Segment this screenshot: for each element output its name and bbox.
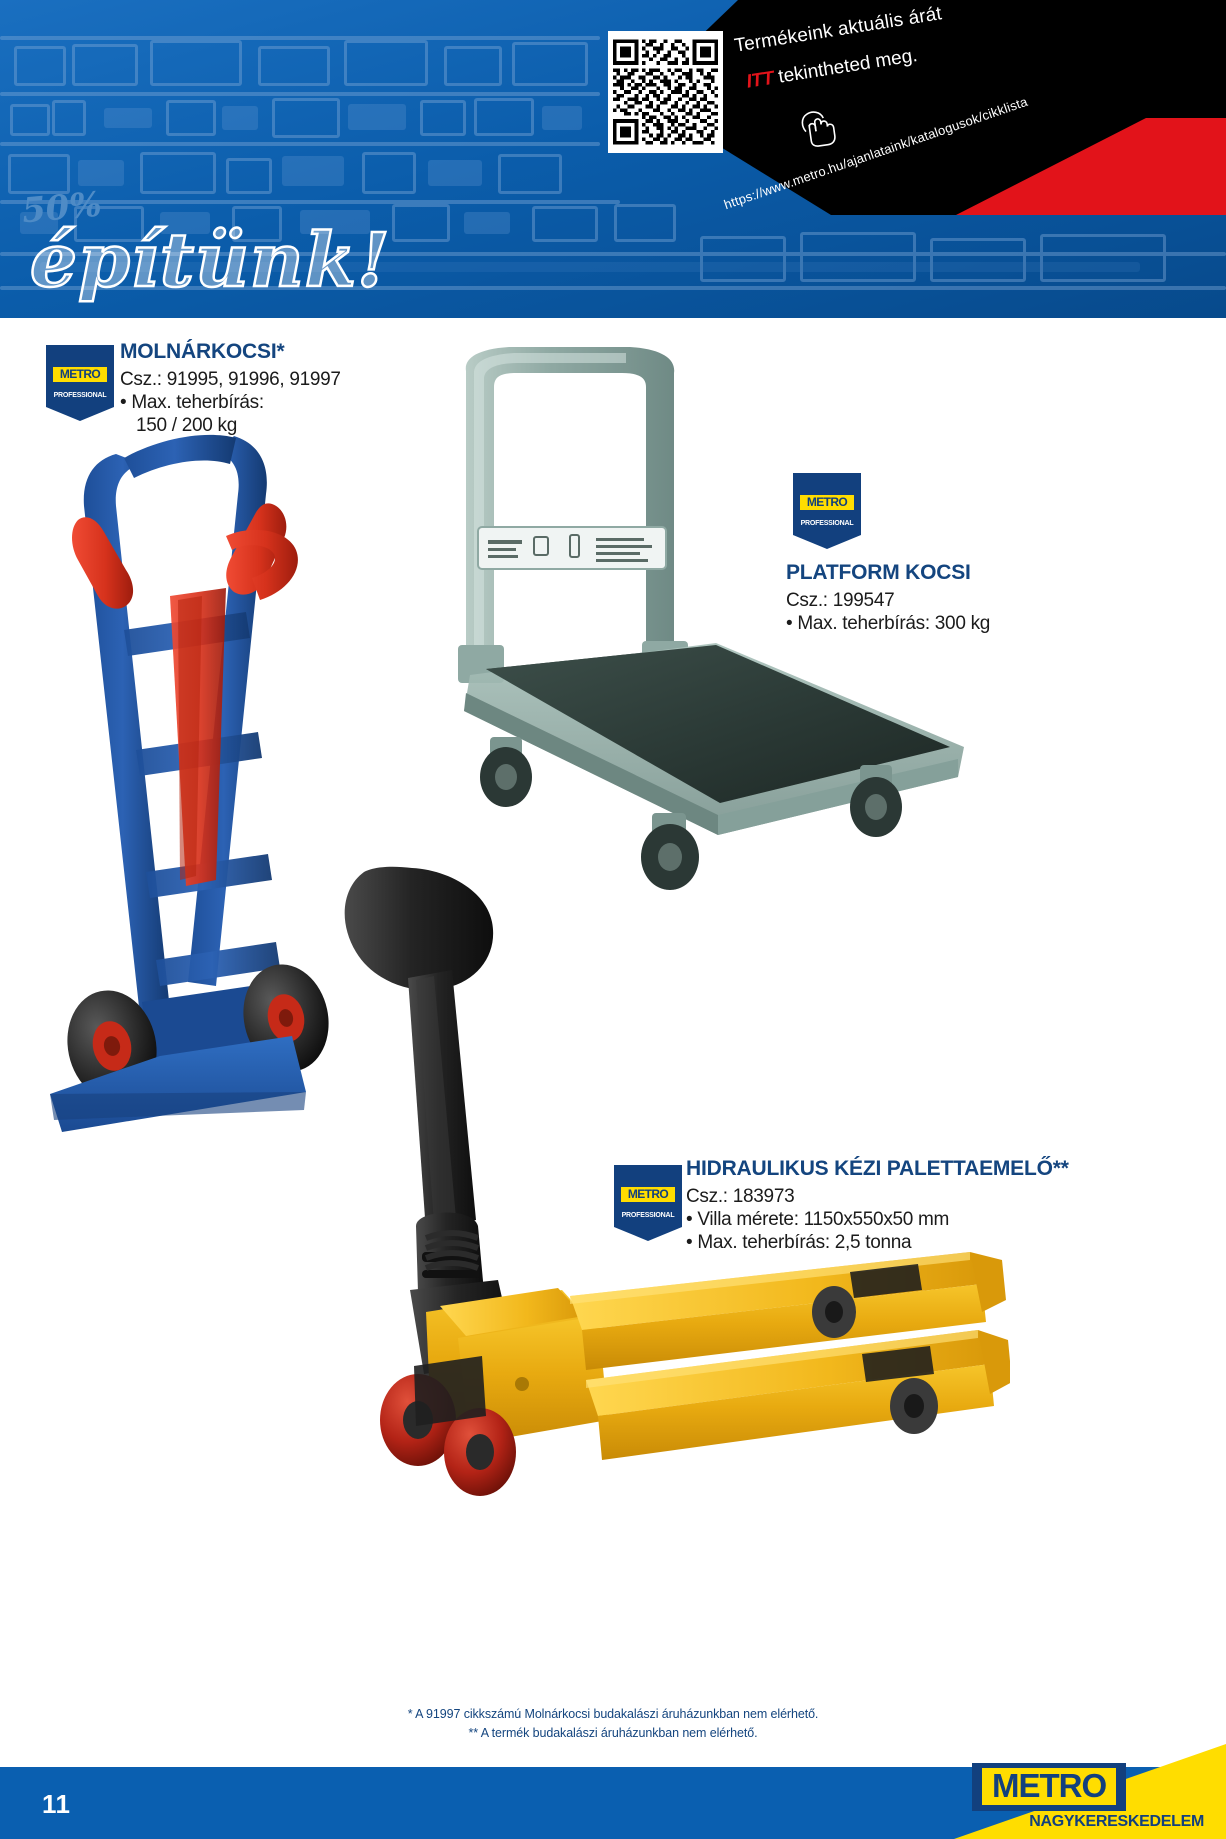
product-image-platform-kocsi xyxy=(430,345,990,905)
product-image-palettaemelo xyxy=(330,860,1010,1520)
pointing-hand-icon xyxy=(792,97,842,151)
footnote-1: * A 91997 cikkszámú Molnárkocsi budakalá… xyxy=(0,1705,1226,1724)
page-header: 50% xyxy=(0,0,1226,318)
metro-logo-box: METRO xyxy=(972,1763,1126,1811)
page-number: 11 xyxy=(42,1789,71,1820)
metro-logo: METRO NAGYKERESKEDELEM xyxy=(972,1763,1204,1831)
badge-brand: METRO xyxy=(53,367,107,382)
metro-professional-badge: METRO PROFESSIONAL xyxy=(46,345,114,421)
footnotes: * A 91997 cikkszámú Molnárkocsi budakalá… xyxy=(0,1705,1226,1744)
product-spec: • Max. teherbírás: xyxy=(120,391,341,414)
catalog-page: 50% xyxy=(0,0,1226,1839)
badge-subtitle: PROFESSIONAL xyxy=(46,392,114,399)
metro-logo-subtitle: NAGYKERESKEDELEM xyxy=(972,1813,1204,1831)
product-code: Csz.: 91995, 91996, 91997 xyxy=(120,368,341,391)
page-footer: 11 METRO NAGYKERESKEDELEM xyxy=(0,1767,1226,1839)
promo-itt-link[interactable]: ITT xyxy=(745,68,775,93)
badge-shape xyxy=(46,345,114,421)
page-title: építünk! xyxy=(30,218,390,304)
metro-logo-word: METRO xyxy=(982,1768,1116,1805)
qr-code[interactable] xyxy=(608,31,723,153)
product-image-molnarkocsi xyxy=(20,420,380,1140)
footnote-2: ** A termék budakalászi áruházunkban nem… xyxy=(0,1724,1226,1743)
product-title: MOLNÁRKOCSI* xyxy=(120,340,341,364)
